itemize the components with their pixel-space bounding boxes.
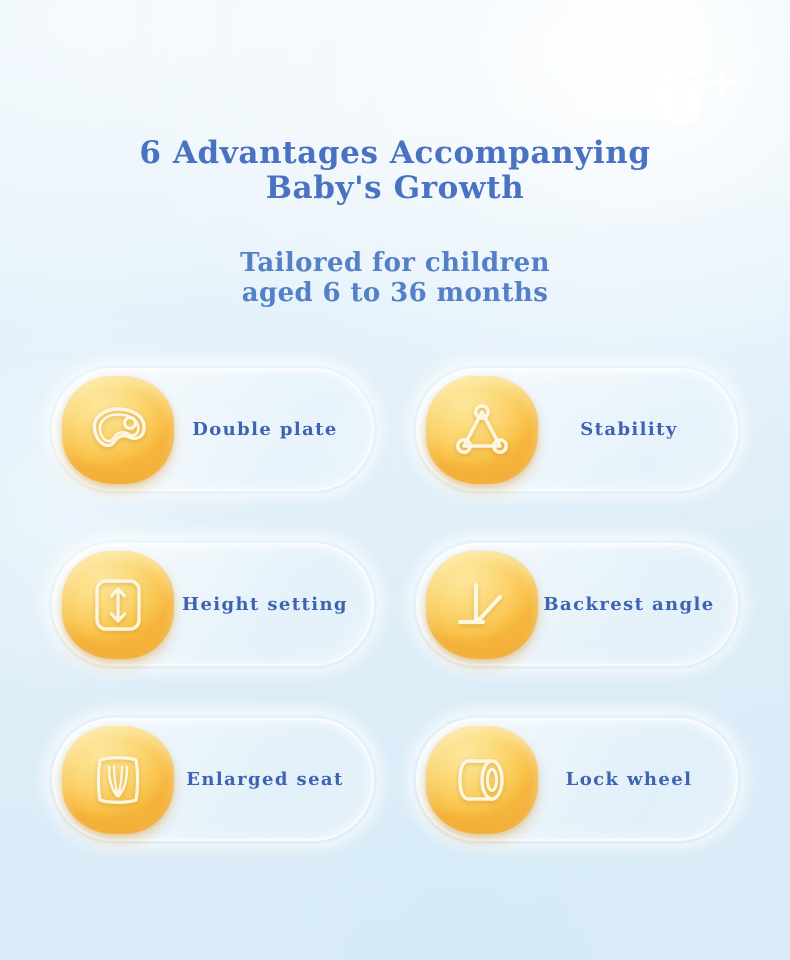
feature-card-lock-wheel[interactable]: Lock wheel [416,718,738,841]
page-title: 6 Advantages Accompanying Baby's Growth [0,136,790,205]
enlarged-seat-icon [62,726,174,834]
page-subtitle-line-1: Tailored for children [240,248,550,278]
page-title-line-2: Baby's Growth [266,170,525,206]
feature-label: Lock wheel [538,769,738,790]
feature-card-double-plate[interactable]: Double plate [52,368,374,491]
background-glow-bottom [200,820,720,960]
height-setting-icon [62,551,174,659]
feature-label: Backrest angle [538,594,738,615]
feature-label: Enlarged seat [174,769,374,790]
headings-block: 6 Advantages Accompanying Baby's Growth … [0,136,790,309]
promo-page: 6 + 6 Advantages Accompanying Baby's Gro… [0,0,790,960]
feature-card-backrest-angle[interactable]: Backrest angle [416,543,738,666]
feature-card-stability[interactable]: Stability [416,368,738,491]
age-badge-number: 6 [651,58,703,136]
double-plate-icon [62,376,174,484]
lock-wheel-icon [426,726,538,834]
age-badge-plus: + [704,62,738,102]
stability-triangle-icon [426,376,538,484]
page-subtitle-line-2: aged 6 to 36 months [242,278,549,308]
feature-card-height-setting[interactable]: Height setting [52,543,374,666]
feature-grid: Double plate Stability [52,368,738,841]
feature-label: Height setting [174,594,374,615]
page-title-line-1: 6 Advantages Accompanying [139,135,650,171]
age-badge: 6 + [651,58,738,136]
backrest-angle-icon [426,551,538,659]
feature-card-enlarged-seat[interactable]: Enlarged seat [52,718,374,841]
page-subtitle: Tailored for children aged 6 to 36 month… [0,205,790,308]
feature-label: Stability [538,419,738,440]
feature-label: Double plate [174,419,374,440]
